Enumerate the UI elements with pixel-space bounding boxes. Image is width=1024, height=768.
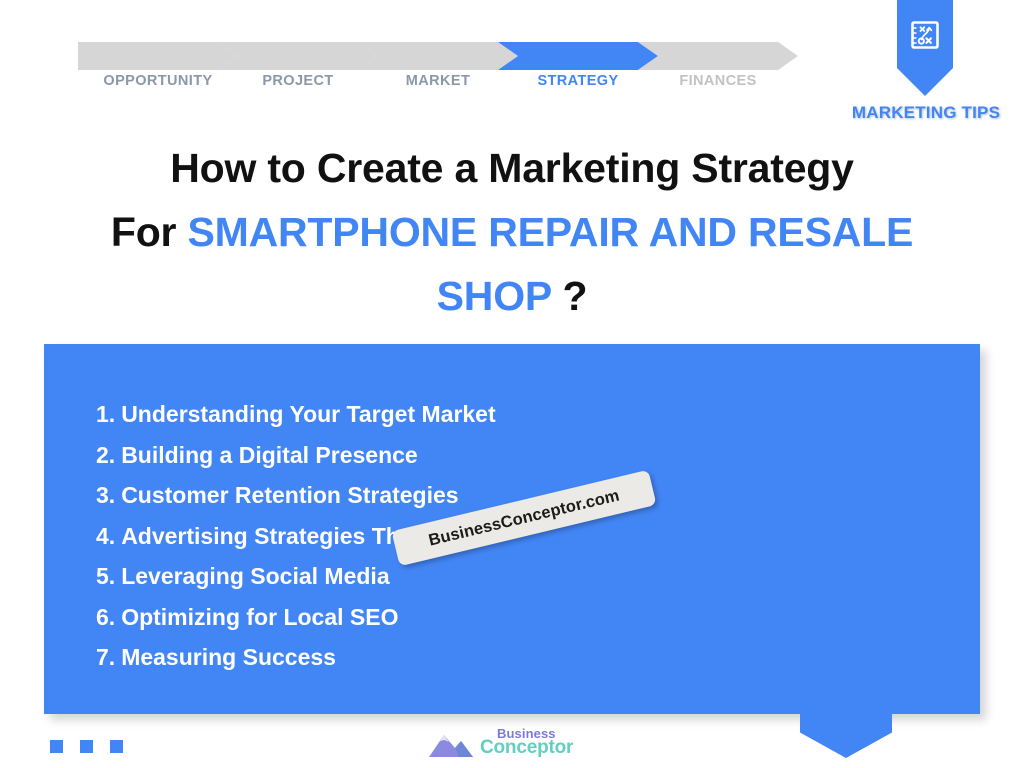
chevron-shape	[218, 42, 378, 70]
list-item: 1.Understanding Your Target Market	[96, 394, 496, 435]
nav-step-opportunity[interactable]: OPPORTUNITY	[78, 42, 238, 94]
headline-suffix: ?	[551, 273, 587, 319]
list-item-number: 2.	[96, 442, 115, 468]
marketing-tips-caption: MARKETING TIPS	[848, 103, 1004, 123]
list-item-number: 7.	[96, 644, 115, 670]
list-item-number: 5.	[96, 563, 115, 589]
footer-dots	[50, 740, 123, 753]
chevron-shape-active	[498, 42, 658, 70]
nav-step-label: MARKET	[358, 73, 518, 89]
list-item-number: 4.	[96, 523, 115, 549]
nav-step-label: PROJECT	[218, 73, 378, 89]
nav-step-strategy[interactable]: STRATEGY	[498, 42, 658, 94]
footer-dot	[80, 740, 93, 753]
list-item-label: Measuring Success	[121, 644, 336, 670]
list-item: 5.Leveraging Social Media	[96, 556, 496, 597]
logo-word-conceptor: Conceptor	[480, 738, 573, 757]
list-item-label: Customer Retention Strategies	[121, 482, 458, 508]
nav-step-project[interactable]: PROJECT	[218, 42, 378, 94]
list-item-label: Understanding Your Target Market	[121, 401, 495, 427]
nav-step-label: STRATEGY	[498, 73, 658, 89]
marketing-tips-ribbon	[897, 0, 953, 96]
headline-line-1: How to Create a Marketing Strategy	[170, 145, 854, 191]
footer-dot	[110, 740, 123, 753]
nav-step-label: FINANCES	[638, 73, 798, 89]
list-item: 6.Optimizing for Local SEO	[96, 597, 496, 638]
list-item-label: Optimizing for Local SEO	[121, 604, 398, 630]
chevron-shape	[358, 42, 518, 70]
list-item: 2.Building a Digital Presence	[96, 435, 496, 476]
process-step-nav: OPPORTUNITY PROJECT MARKET STRATEGY FINA…	[78, 42, 818, 94]
chevron-shape	[638, 42, 798, 70]
nav-step-finances[interactable]: FINANCES	[638, 42, 798, 94]
bottom-pointer-ribbon	[800, 705, 892, 758]
page-title: How to Create a Marketing Strategy For S…	[62, 136, 962, 328]
logo-wordmark: Business Conceptor	[480, 727, 573, 757]
business-conceptor-logo: Business Conceptor	[428, 727, 574, 763]
list-item: 7.Measuring Success	[96, 637, 496, 678]
headline-prefix: For	[111, 209, 188, 255]
nav-step-label: OPPORTUNITY	[78, 73, 238, 89]
footer-dot	[50, 740, 63, 753]
list-item-label: Building a Digital Presence	[121, 442, 418, 468]
list-item-number: 3.	[96, 482, 115, 508]
strategy-playbook-icon	[908, 18, 942, 52]
chevron-shape	[78, 42, 238, 70]
nav-step-market[interactable]: MARKET	[358, 42, 518, 94]
list-item: 3.Customer Retention Strategies	[96, 475, 496, 516]
list-item-number: 6.	[96, 604, 115, 630]
list-item-label: Leveraging Social Media	[121, 563, 389, 589]
list-item-number: 1.	[96, 401, 115, 427]
